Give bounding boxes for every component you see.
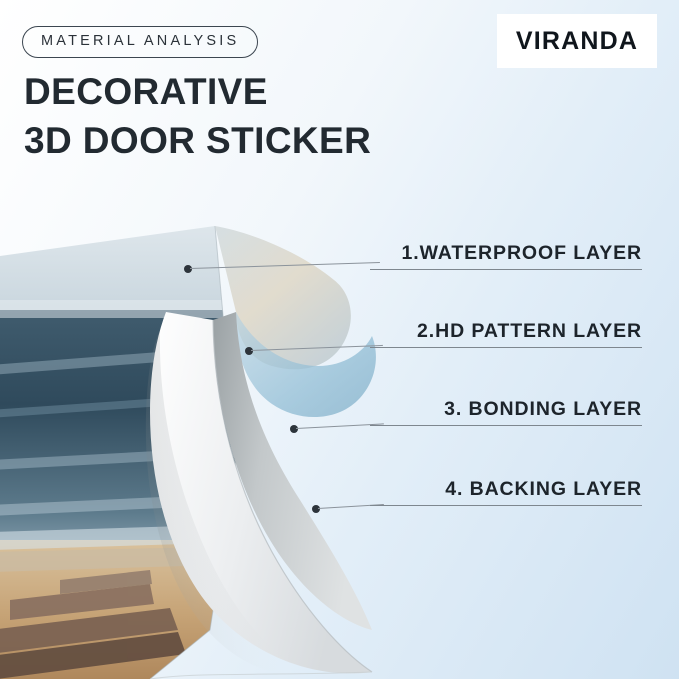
callout-backing-layer: 4. BACKING LAYER [370, 478, 642, 506]
title-line-2: 3D DOOR STICKER [24, 117, 371, 166]
callout-bonding-layer: 3. BONDING LAYER [370, 398, 642, 426]
callout-hd-pattern-layer: 2.HD PATTERN LAYER [370, 320, 642, 348]
page-title: DECORATIVE 3D DOOR STICKER [24, 68, 371, 166]
brand-name: VIRANDA [516, 27, 638, 56]
callout-waterproof-layer: 1.WATERPROOF LAYER [370, 242, 642, 270]
eyebrow-badge: MATERIAL ANALYSIS [22, 26, 258, 58]
poster-canvas: MATERIAL ANALYSIS DECORATIVE 3D DOOR STI… [0, 0, 679, 679]
title-line-1: DECORATIVE [24, 68, 371, 117]
brand-logo-box: VIRANDA [497, 14, 657, 68]
